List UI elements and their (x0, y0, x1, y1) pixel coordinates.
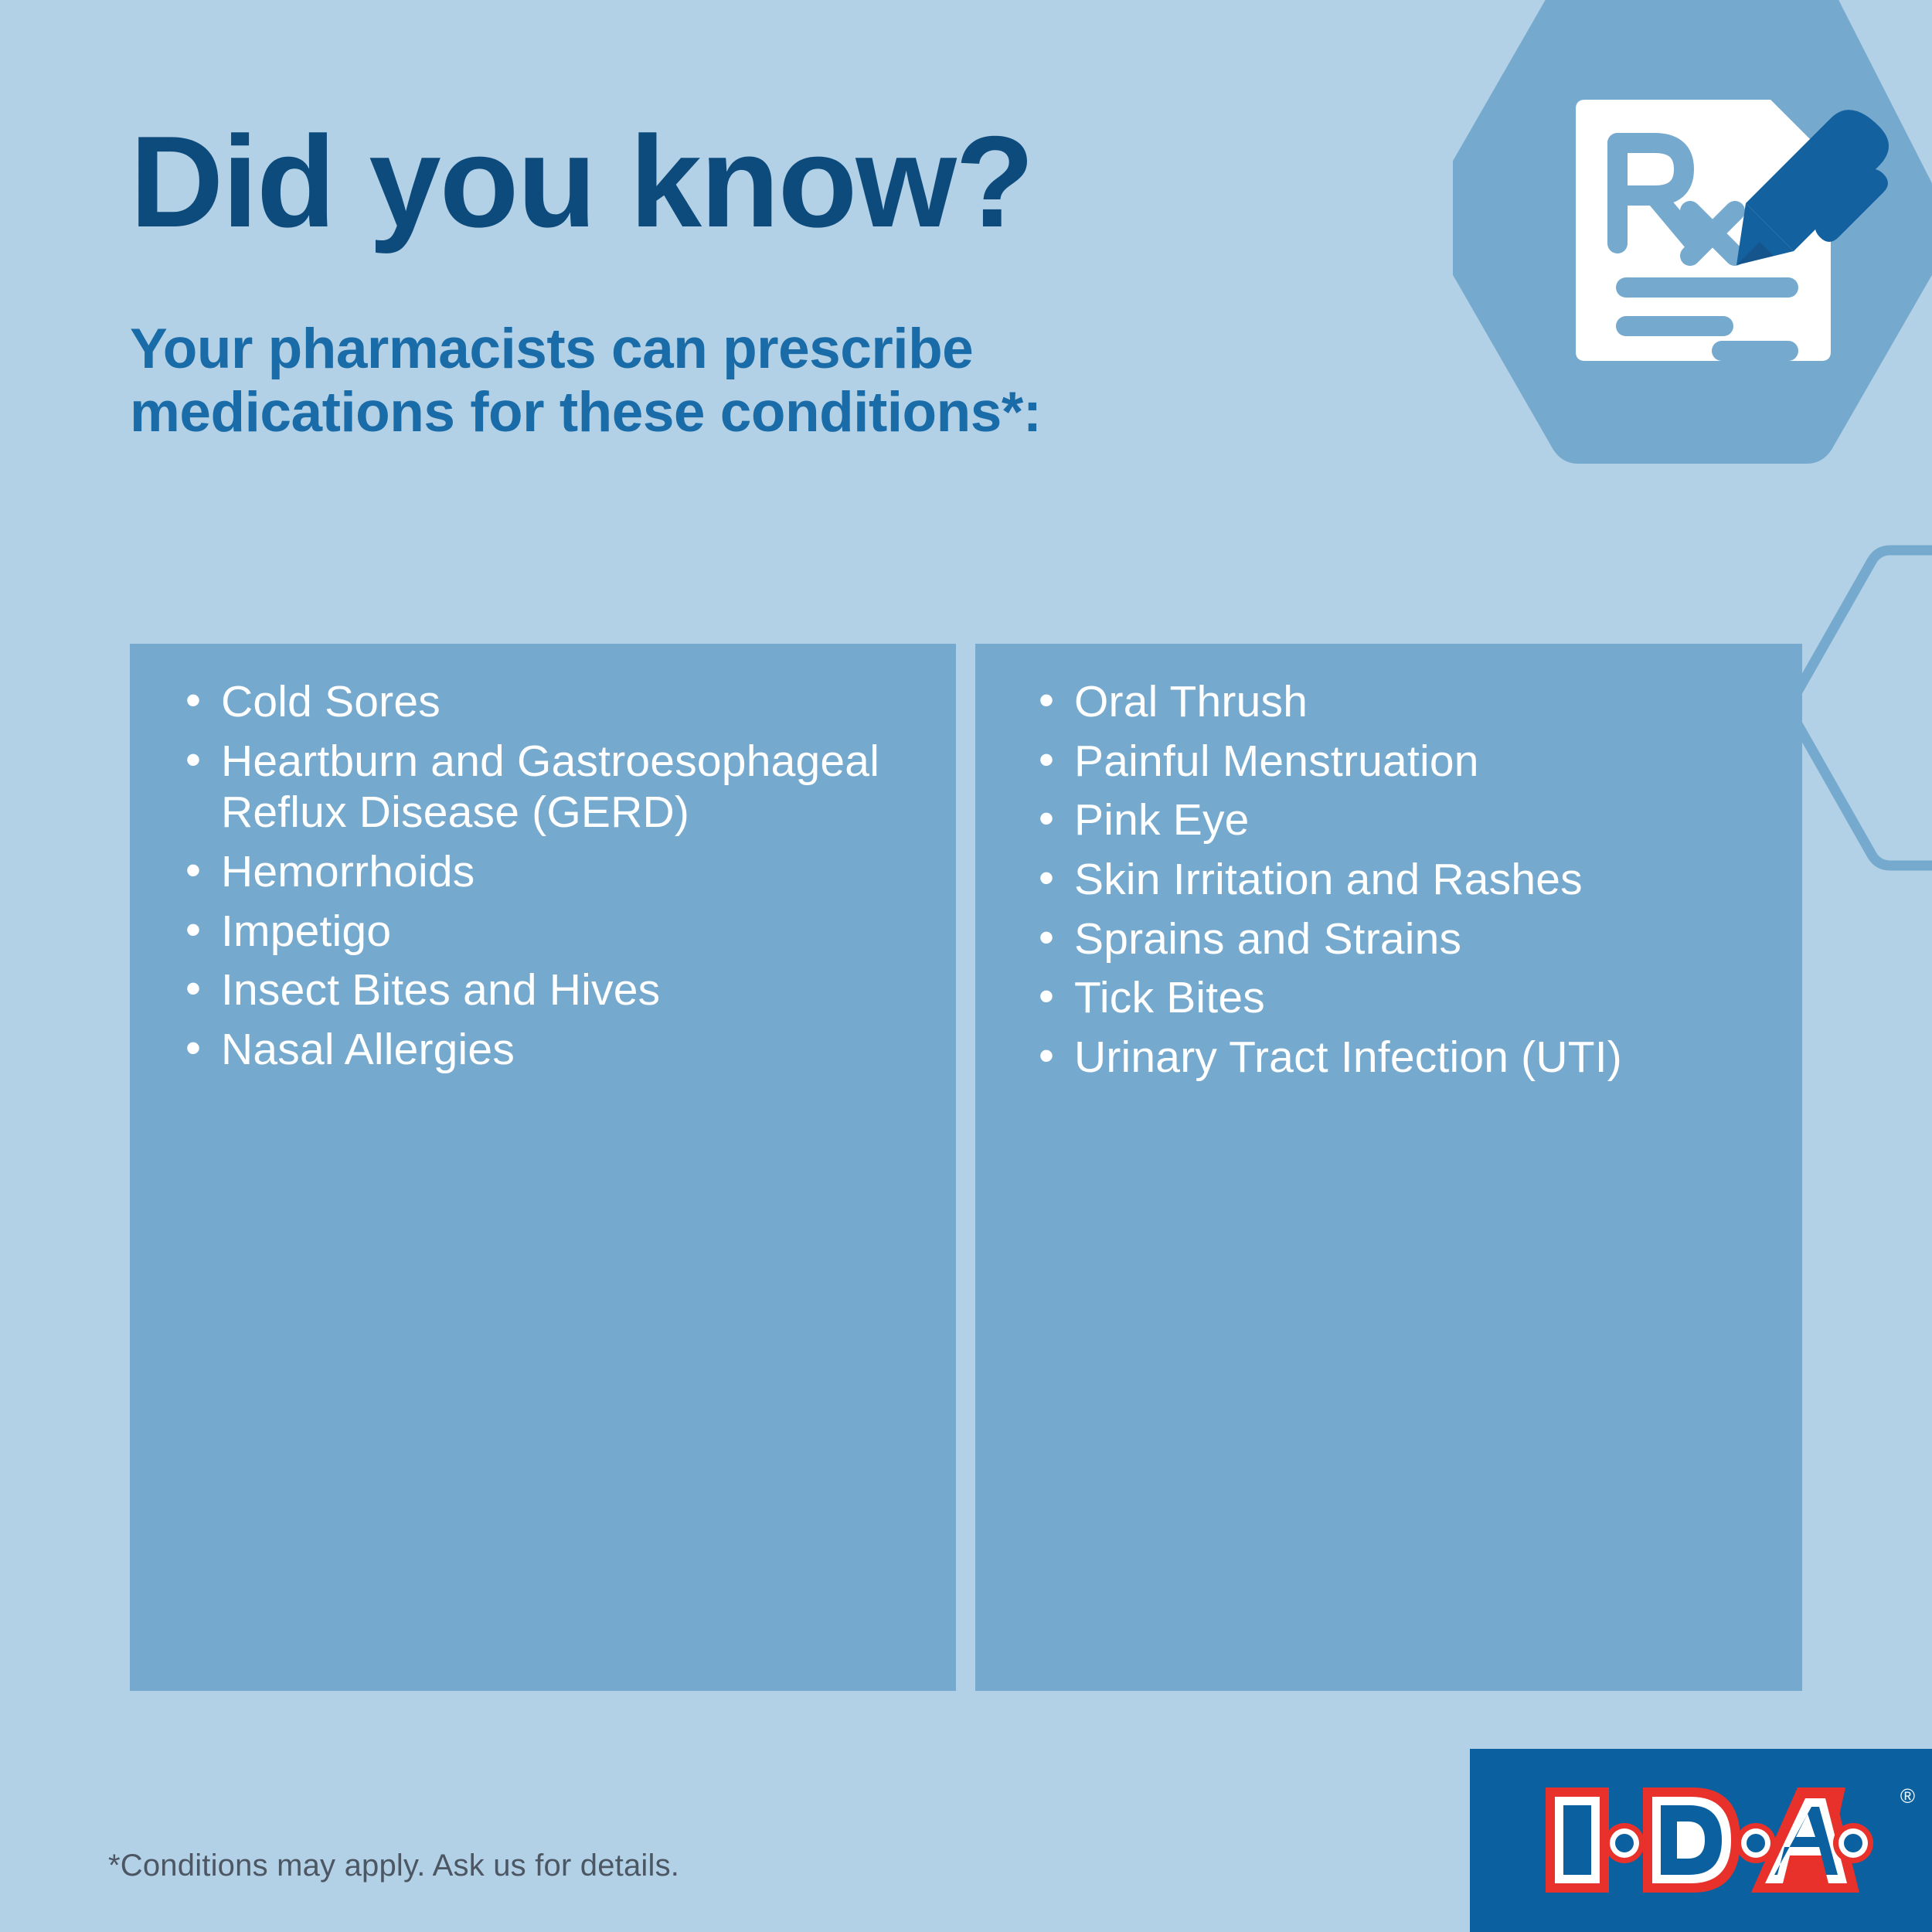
headline-block: Did you know? Your pharmacists can presc… (130, 116, 1366, 444)
page-subtitle: Your pharmacists can prescribe medicatio… (130, 318, 1366, 444)
list-item: Pink Eye (1039, 794, 1779, 846)
hexagon-outline-shape (1801, 533, 1932, 904)
ida-logo (1541, 1781, 1873, 1899)
list-item: Impetigo (185, 906, 933, 957)
conditions-panel-right: Oral Thrush Painful Menstruation Pink Ey… (975, 644, 1802, 1691)
conditions-list-left: Cold Sores Heartburn and Gastroesophagea… (185, 676, 933, 1076)
list-item: Urinary Tract Infection (UTI) (1039, 1032, 1779, 1083)
list-item: Cold Sores (185, 676, 933, 728)
list-item: Nasal Allergies (185, 1024, 933, 1076)
list-item: Sprains and Strains (1039, 913, 1779, 965)
registered-trademark-mark: ® (1900, 1786, 1915, 1806)
list-item: Oral Thrush (1039, 676, 1779, 728)
hexagon-shape (1453, 0, 1932, 510)
list-item: Tick Bites (1039, 972, 1779, 1024)
subtitle-line-2: medications for these conditions*: (130, 381, 1366, 444)
poster-canvas: Did you know? Your pharmacists can presc… (0, 0, 1932, 1932)
pen-icon (1736, 110, 1889, 265)
list-item: Painful Menstruation (1039, 736, 1779, 787)
conditions-panels: Cold Sores Heartburn and Gastroesophagea… (130, 644, 1802, 1691)
list-item: Skin Irritation and Rashes (1039, 854, 1779, 906)
footnote-text: *Conditions may apply. Ask us for detail… (108, 1849, 679, 1883)
list-item: Insect Bites and Hives (185, 964, 933, 1016)
conditions-panel-left: Cold Sores Heartburn and Gastroesophagea… (130, 644, 956, 1691)
brand-logo-bar: ® (1470, 1749, 1932, 1932)
list-item: Heartburn and Gastroesophageal Reflux Di… (185, 736, 933, 838)
prescription-document-icon (1571, 89, 1896, 383)
page-title: Did you know? (130, 116, 1366, 248)
subtitle-line-1: Your pharmacists can prescribe (130, 318, 1366, 381)
list-item: Hemorrhoids (185, 846, 933, 898)
conditions-list-right: Oral Thrush Painful Menstruation Pink Ey… (1039, 676, 1779, 1083)
